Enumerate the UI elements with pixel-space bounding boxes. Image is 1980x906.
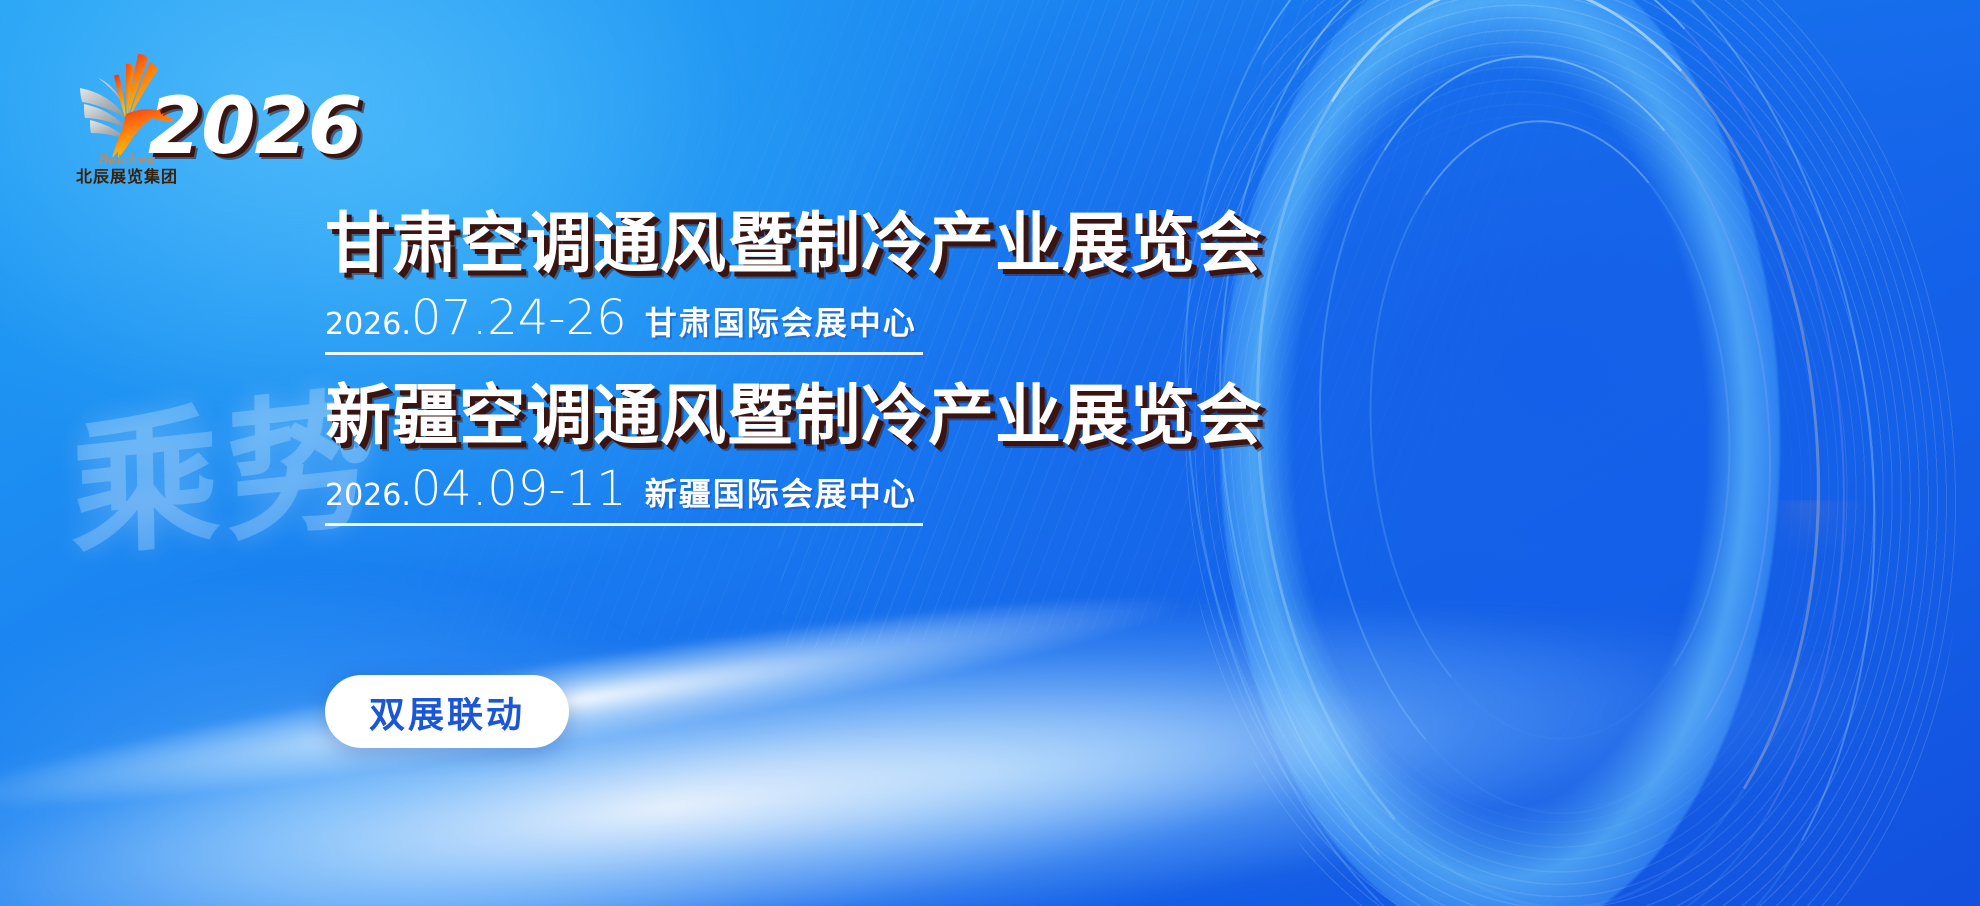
dual-show-badge[interactable]: 双展联动 [325,675,569,748]
logo-company-name: 北辰展览集团 [62,170,192,186]
show-meta: 2026.04.09-11 新疆国际会展中心 [325,465,923,526]
year-label: 2026 [148,88,361,166]
ring-warm-highlight-bottom [1410,500,1980,906]
show-title: 新疆空调通风暨制冷产业展览会 [325,377,1475,454]
show-date: 2026.04.09-11 [325,465,627,513]
show-venue: 甘肃国际会展中心 [645,307,917,339]
show-block-xinjiang: 新疆空调通风暨制冷产业展览会 2026.04.09-11 新疆国际会展中心 [325,377,1475,527]
show-date-year: 2026. [325,478,411,513]
show-meta: 2026.07.24-26 甘肃国际会展中心 [325,294,923,355]
show-date-month-day: 07.24-26 [411,290,627,346]
shows-list: 甘肃空调通风暨制冷产业展览会 2026.07.24-26 甘肃国际会展中心 新疆… [325,205,1475,548]
show-date-year: 2026. [325,307,411,342]
show-block-gansu: 甘肃空调通风暨制冷产业展览会 2026.07.24-26 甘肃国际会展中心 [325,205,1475,355]
exhibition-banner: 乘势 [0,0,1980,906]
show-date-month-day: 04.09-11 [411,461,627,517]
show-venue: 新疆国际会展中心 [645,478,917,510]
bottom-light-wave-low [0,501,1980,906]
show-date: 2026.07.24-26 [325,294,627,342]
show-title: 甘肃空调通风暨制冷产业展览会 [325,205,1475,282]
